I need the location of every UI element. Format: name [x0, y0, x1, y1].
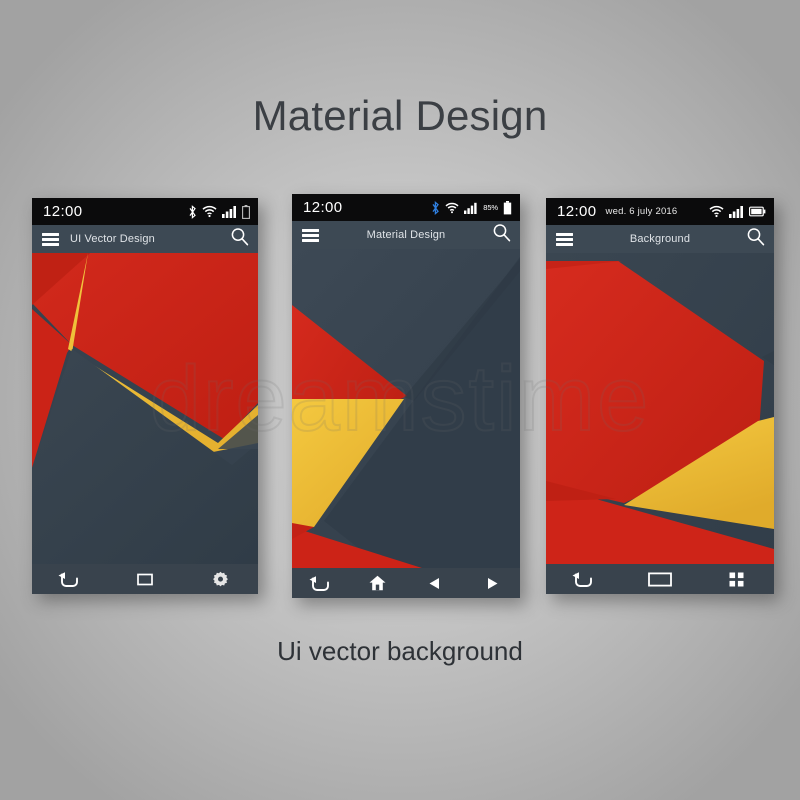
hamburger-menu-icon[interactable] [302, 229, 319, 242]
toolbar-title: Background [546, 233, 774, 245]
bluetooth-icon [188, 205, 197, 219]
settings-gear-icon[interactable] [183, 571, 258, 588]
search-icon[interactable] [492, 223, 511, 247]
battery-icon [749, 206, 766, 217]
signal-bars-icon [222, 205, 237, 218]
recents-square-icon[interactable] [107, 573, 182, 586]
phone2-nav-bar [292, 568, 520, 598]
next-triangle-icon[interactable] [463, 577, 520, 590]
phone-mockup-3: 12:00 wed. 6 july 2016 [546, 198, 774, 594]
signal-bars-icon [729, 205, 744, 218]
status-clock: 12:00 [43, 203, 83, 220]
status-clock: 12:00 [557, 203, 597, 220]
bluetooth-icon [431, 201, 440, 215]
phone2-status-bar: 12:00 [292, 194, 520, 221]
wifi-icon [709, 205, 724, 218]
page-caption: Ui vector background [0, 636, 800, 667]
apps-grid-icon[interactable] [698, 572, 774, 587]
prev-triangle-icon[interactable] [406, 577, 463, 590]
phone3-status-bar: 12:00 wed. 6 july 2016 [546, 198, 774, 225]
status-clock: 12:00 [303, 199, 343, 216]
phone-mockup-2: 12:00 [292, 194, 520, 598]
phone1-nav-bar [32, 564, 258, 594]
recents-rectangle-icon[interactable] [622, 572, 698, 587]
phone3-nav-bar [546, 564, 774, 594]
page-title: Material Design [0, 92, 800, 140]
status-icon-group [709, 205, 766, 218]
phone2-toolbar: Material Design [292, 221, 520, 249]
toolbar-title: Material Design [292, 229, 520, 241]
hamburger-menu-icon[interactable] [556, 233, 573, 246]
phone1-wallpaper [32, 253, 258, 564]
search-icon[interactable] [746, 227, 765, 251]
phone3-wallpaper [546, 253, 774, 564]
signal-bars-icon [464, 202, 478, 214]
battery-icon [503, 201, 512, 215]
back-icon[interactable] [292, 575, 349, 592]
battery-icon [242, 205, 250, 219]
phone1-toolbar: UI Vector Design [32, 225, 258, 253]
wifi-icon [202, 205, 217, 218]
toolbar-title: UI Vector Design [70, 233, 155, 245]
phone-mockup-1: 12:00 [32, 198, 258, 594]
phone1-status-bar: 12:00 [32, 198, 258, 225]
status-icon-group [188, 205, 250, 219]
hamburger-menu-icon[interactable] [42, 233, 59, 246]
status-icon-group: 85% [431, 201, 512, 215]
wifi-icon [445, 202, 459, 214]
status-date-label: wed. 6 july 2016 [606, 206, 678, 217]
back-icon[interactable] [546, 571, 622, 588]
home-icon[interactable] [349, 575, 406, 591]
phone2-wallpaper [292, 249, 520, 568]
search-icon[interactable] [230, 227, 249, 251]
phone3-toolbar: Background [546, 225, 774, 253]
battery-percent-label: 85% [483, 203, 498, 212]
back-icon[interactable] [32, 571, 107, 588]
